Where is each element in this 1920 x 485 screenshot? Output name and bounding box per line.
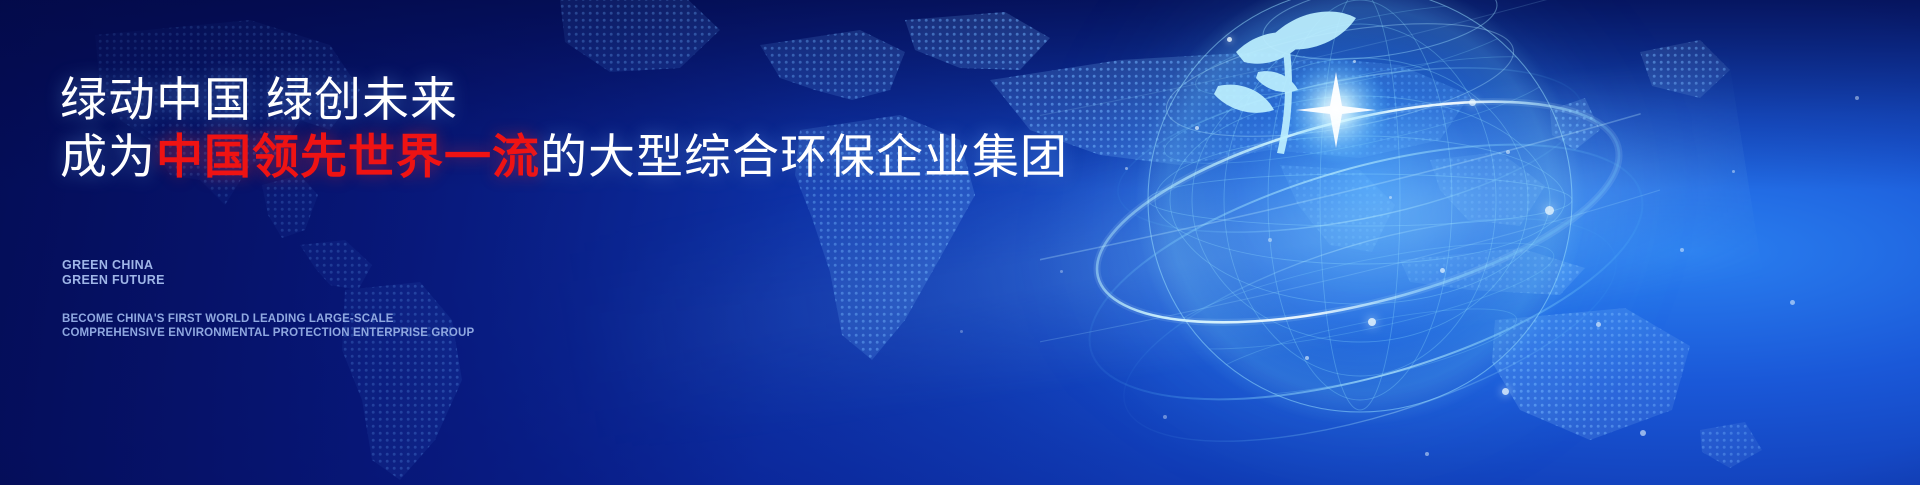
background-vignette [0, 0, 1920, 485]
banner-hero: 绿动中国 绿创未来 成为中国领先世界一流的大型综合环保企业集团 GREEN CH… [0, 0, 1920, 485]
